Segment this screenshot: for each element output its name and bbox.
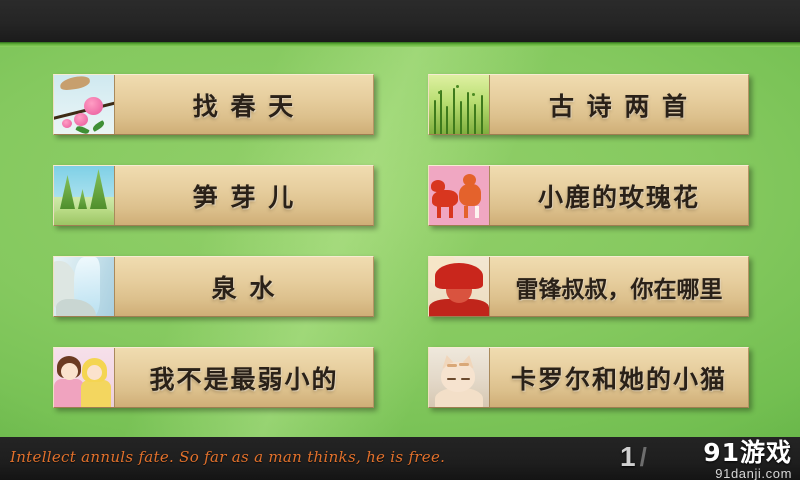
lesson-button-5[interactable]: 泉 水 (53, 256, 374, 317)
lesson-cell-7: 我不是最弱小的 (53, 347, 372, 406)
quote-text: Intellect annuls fate. So far as a man t… (10, 447, 570, 467)
lesson-button-2[interactable]: 古 诗 两 首 (428, 74, 749, 135)
bamboo-shoots-icon (54, 166, 114, 225)
lesson-cell-8: 卡罗尔和她的小猫 (428, 347, 747, 406)
lesson-cell-6: 雷锋叔叔，你在哪里 (428, 256, 747, 315)
application-window: 劲爆金 ✖ 未注册 ✖ 找 春 天 (0, 0, 800, 480)
lesson-thumbnail-1 (54, 75, 115, 134)
lesson-title-2: 古 诗 两 首 (490, 75, 748, 134)
spring-waterfall-icon (54, 257, 114, 316)
lesson-cell-4: 小鹿的玫瑰花 (428, 165, 747, 224)
lesson-button-3[interactable]: 笋 芽 儿 (53, 165, 374, 226)
lesson-title-6: 雷锋叔叔，你在哪里 (490, 257, 748, 316)
title-bar (0, 0, 800, 42)
lesson-cell-1: 找 春 天 (53, 74, 372, 133)
lesson-thumbnail-6 (429, 257, 490, 316)
title-bar-glow-divider (0, 42, 800, 47)
lesson-cell-3: 笋 芽 儿 (53, 165, 372, 224)
lesson-cell-2: 古 诗 两 首 (428, 74, 747, 133)
lesson-thumbnail-4 (429, 166, 490, 225)
watermark-url: 91danji.com (632, 466, 792, 480)
two-children-icon (54, 348, 114, 407)
lei-feng-portrait-icon (429, 257, 489, 316)
lesson-cell-5: 泉 水 (53, 256, 372, 315)
status-bar: Intellect annuls fate. So far as a man t… (0, 437, 800, 480)
lesson-thumbnail-2 (429, 75, 490, 134)
sleeping-kitten-icon (429, 348, 489, 407)
lesson-thumbnail-7 (54, 348, 115, 407)
lesson-title-7: 我不是最弱小的 (115, 348, 373, 407)
lesson-button-8[interactable]: 卡罗尔和她的小猫 (428, 347, 749, 408)
lesson-title-1: 找 春 天 (115, 75, 373, 134)
lesson-button-7[interactable]: 我不是最弱小的 (53, 347, 374, 408)
two-red-deer-icon (429, 166, 489, 225)
lesson-thumbnail-8 (429, 348, 490, 407)
watermark-brand: 91游戏 (632, 439, 792, 466)
lesson-title-4: 小鹿的玫瑰花 (490, 166, 748, 225)
lesson-title-5: 泉 水 (115, 257, 373, 316)
lesson-thumbnail-3 (54, 166, 115, 225)
lesson-grid: 找 春 天 (0, 47, 800, 432)
lesson-button-6[interactable]: 雷锋叔叔，你在哪里 (428, 256, 749, 317)
watermark: 91游戏 91danji.com (632, 439, 792, 480)
lesson-button-1[interactable]: 找 春 天 (53, 74, 374, 135)
lesson-button-4[interactable]: 小鹿的玫瑰花 (428, 165, 749, 226)
lesson-thumbnail-5 (54, 257, 115, 316)
green-grass-field-icon (429, 75, 489, 134)
lesson-title-3: 笋 芽 儿 (115, 166, 373, 225)
peach-blossom-branch-icon (54, 75, 114, 134)
lesson-title-8: 卡罗尔和她的小猫 (490, 348, 748, 407)
